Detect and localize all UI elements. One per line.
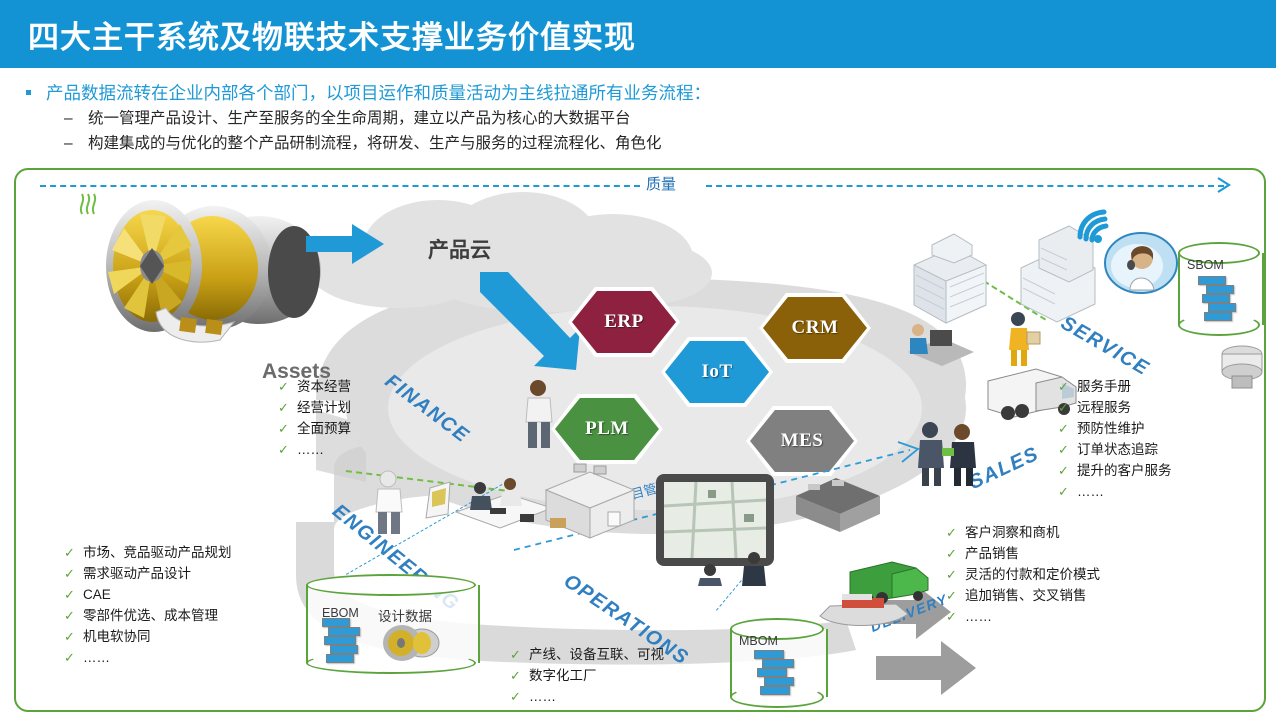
- check-icon: ✓: [946, 564, 957, 585]
- check-icon: ✓: [1058, 439, 1069, 460]
- list-item: ✓……: [278, 439, 351, 460]
- page-title: 四大主干系统及物联技术支撑业务价值实现: [28, 12, 636, 57]
- list-item: ✓提升的客户服务: [1058, 460, 1172, 481]
- list-item-text: ……: [529, 689, 556, 704]
- engineer-person-icon: [368, 470, 412, 536]
- checklist-engineering: ✓市场、竞品驱动产品规划 ✓需求驱动产品设计 ✓CAE ✓零部件优选、成本管理 …: [64, 542, 232, 668]
- cylinder-ebom-label: EBOM: [322, 606, 359, 620]
- mini-engine-icon: [380, 620, 442, 666]
- list-item-text: 市场、竞品驱动产品规划: [83, 545, 232, 560]
- bullet-level1-text: 产品数据流转在企业内部各个部门，以项目运作和质量活动为主线拉通所有业务流程：: [46, 83, 711, 103]
- cylinder-sbom-label: SBOM: [1187, 258, 1224, 272]
- check-icon: ✓: [510, 644, 521, 665]
- list-item: ✓数字化工厂: [510, 665, 664, 686]
- check-icon: ✓: [510, 665, 521, 686]
- tablet-map-icon: [652, 470, 778, 586]
- check-icon: ✓: [1058, 376, 1069, 397]
- document-stack-icon: [754, 650, 806, 700]
- bullet-level2-2-text: 构建集成的与优化的整个产品研制流程，将研发、生产与服务的过程流程化、角色化: [88, 135, 662, 152]
- diagram-canvas: 质量 产品云: [14, 168, 1266, 712]
- list-item-text: 需求驱动产品设计: [83, 566, 191, 581]
- check-icon: ✓: [1058, 460, 1069, 481]
- check-icon: ✓: [278, 397, 289, 418]
- support-agent-avatar: [1104, 232, 1178, 294]
- check-icon: ✓: [946, 606, 957, 627]
- hexagon-iot-label: IoT: [701, 361, 732, 383]
- list-item-text: 客户洞察和商机: [965, 525, 1060, 540]
- bullet-level2-1-text: 统一管理产品设计、生产至服务的全生命周期，建立以产品为核心的大数据平台: [88, 110, 631, 127]
- check-icon: ✓: [946, 585, 957, 606]
- list-item: ✓产品销售: [946, 543, 1100, 564]
- bullet-level2-2: – 构建集成的与优化的整个产品研制流程，将研发、生产与服务的过程流程化、角色化: [22, 131, 1252, 156]
- list-item: ✓……: [510, 686, 664, 707]
- service-part-icon: [1214, 342, 1266, 394]
- list-item-text: 灵活的付款和定价模式: [965, 567, 1100, 582]
- list-item: ✓服务手册: [1058, 376, 1172, 397]
- document-stack-icon: [1198, 276, 1244, 326]
- bullet-level1: 产品数据流转在企业内部各个部门，以项目运作和质量活动为主线拉通所有业务流程：: [22, 80, 1252, 106]
- list-item: ✓机电软协同: [64, 626, 232, 647]
- list-item: ✓客户洞察和商机: [946, 522, 1100, 543]
- list-item: ✓资本经营: [278, 376, 351, 397]
- check-icon: ✓: [64, 647, 75, 668]
- turbine-engine-image: [94, 190, 324, 360]
- list-item: ✓市场、竞品驱动产品规划: [64, 542, 232, 563]
- list-item-text: 全面预算: [297, 421, 351, 436]
- cylinder-ebom[interactable]: EBOM 设计数据: [306, 574, 476, 674]
- list-item: ✓零部件优选、成本管理: [64, 605, 232, 626]
- cylinder-mbom-label: MBOM: [739, 634, 778, 648]
- list-item-text: 数字化工厂: [529, 668, 597, 683]
- hexagon-crm-label: CRM: [792, 317, 839, 339]
- blue-arrow-to-erp-icon: [474, 270, 584, 378]
- list-item: ✓产线、设备互联、可视: [510, 644, 664, 665]
- checklist-service: ✓服务手册 ✓远程服务 ✓预防性维护 ✓订单状态追踪 ✓提升的客户服务 ✓……: [1058, 376, 1172, 502]
- cloud-label: 产品云: [428, 234, 491, 264]
- list-item-text: 预防性维护: [1077, 421, 1145, 436]
- list-item: ✓追加销售、交叉销售: [946, 585, 1100, 606]
- list-item-text: ……: [297, 442, 324, 457]
- hexagon-plm-label: PLM: [585, 418, 629, 440]
- check-icon: ✓: [64, 626, 75, 647]
- list-item-text: 机电软协同: [83, 629, 151, 644]
- design-data-label: 设计数据: [378, 605, 432, 625]
- list-item: ✓全面预算: [278, 418, 351, 439]
- office-worker-icon: [902, 308, 978, 372]
- list-item-text: 提升的客户服务: [1077, 463, 1172, 478]
- list-item: ✓灵活的付款和定价模式: [946, 564, 1100, 585]
- list-item: ✓需求驱动产品设计: [64, 563, 232, 584]
- list-item: ✓订单状态追踪: [1058, 439, 1172, 460]
- cylinder-top: [306, 574, 476, 596]
- check-icon: ✓: [64, 563, 75, 584]
- dash-icon: –: [64, 131, 73, 156]
- check-icon: ✓: [278, 439, 289, 460]
- list-item-text: 订单状态追踪: [1077, 442, 1158, 457]
- check-icon: ✓: [1058, 481, 1069, 502]
- check-icon: ✓: [278, 418, 289, 439]
- meeting-scene-icon: [416, 452, 556, 540]
- checklist-operations: ✓产线、设备互联、可视 ✓数字化工厂 ✓……: [510, 644, 664, 707]
- sales-people-icon: [912, 420, 982, 488]
- list-item-text: ……: [965, 609, 992, 624]
- list-item-text: 经营计划: [297, 400, 351, 415]
- bullet-square-icon: [26, 90, 31, 95]
- list-item-text: 追加销售、交叉销售: [965, 588, 1087, 603]
- hexagon-erp-label: ERP: [604, 311, 644, 333]
- bullet-block: 产品数据流转在企业内部各个部门，以项目运作和质量活动为主线拉通所有业务流程： –…: [22, 80, 1252, 156]
- check-icon: ✓: [64, 542, 75, 563]
- list-item-text: 资本经营: [297, 379, 351, 394]
- list-item-text: 服务手册: [1077, 379, 1131, 394]
- list-item: ✓远程服务: [1058, 397, 1172, 418]
- list-item: ✓……: [64, 647, 232, 668]
- list-item-text: 零部件优选、成本管理: [83, 608, 218, 623]
- cylinder-mbom[interactable]: MBOM: [730, 618, 824, 708]
- check-icon: ✓: [278, 376, 289, 397]
- list-item-text: 远程服务: [1077, 400, 1131, 415]
- list-item: ✓经营计划: [278, 397, 351, 418]
- list-item: ✓……: [1058, 481, 1172, 502]
- finance-person-icon: [516, 378, 560, 450]
- list-item: ✓……: [946, 606, 1100, 627]
- plant-building-icon: [788, 470, 886, 540]
- list-item: ✓预防性维护: [1058, 418, 1172, 439]
- list-item: ✓CAE: [64, 584, 232, 605]
- spacer: [514, 382, 520, 388]
- check-icon: ✓: [64, 605, 75, 626]
- cargo-ship-icon: [816, 590, 912, 634]
- factory-building-icon: [536, 460, 640, 542]
- check-icon: ✓: [64, 584, 75, 605]
- dash-icon: –: [64, 106, 73, 131]
- check-icon: ✓: [946, 522, 957, 543]
- checklist-finance: ✓资本经营 ✓经营计划 ✓全面预算 ✓……: [278, 376, 351, 460]
- list-item-text: 产线、设备互联、可视: [529, 647, 664, 662]
- list-item-text: ……: [83, 650, 110, 665]
- check-icon: ✓: [1058, 397, 1069, 418]
- list-item-text: ……: [1077, 484, 1104, 499]
- steam-icon: [76, 188, 98, 216]
- bullet-level2-1: – 统一管理产品设计、生产至服务的全生命周期，建立以产品为核心的大数据平台: [22, 106, 1252, 131]
- list-item-text: 产品销售: [965, 546, 1019, 561]
- check-icon: ✓: [1058, 418, 1069, 439]
- check-icon: ✓: [510, 686, 521, 707]
- checklist-sales: ✓客户洞察和商机 ✓产品销售 ✓灵活的付款和定价模式 ✓追加销售、交叉销售 ✓……: [946, 522, 1100, 627]
- cylinder-sbom[interactable]: SBOM: [1178, 242, 1260, 336]
- document-stack-icon: [322, 618, 378, 664]
- check-icon: ✓: [946, 543, 957, 564]
- list-item-text: CAE: [83, 587, 111, 602]
- blue-arrow-to-cloud-icon: [306, 220, 386, 268]
- worker-with-box-icon: [1001, 310, 1041, 368]
